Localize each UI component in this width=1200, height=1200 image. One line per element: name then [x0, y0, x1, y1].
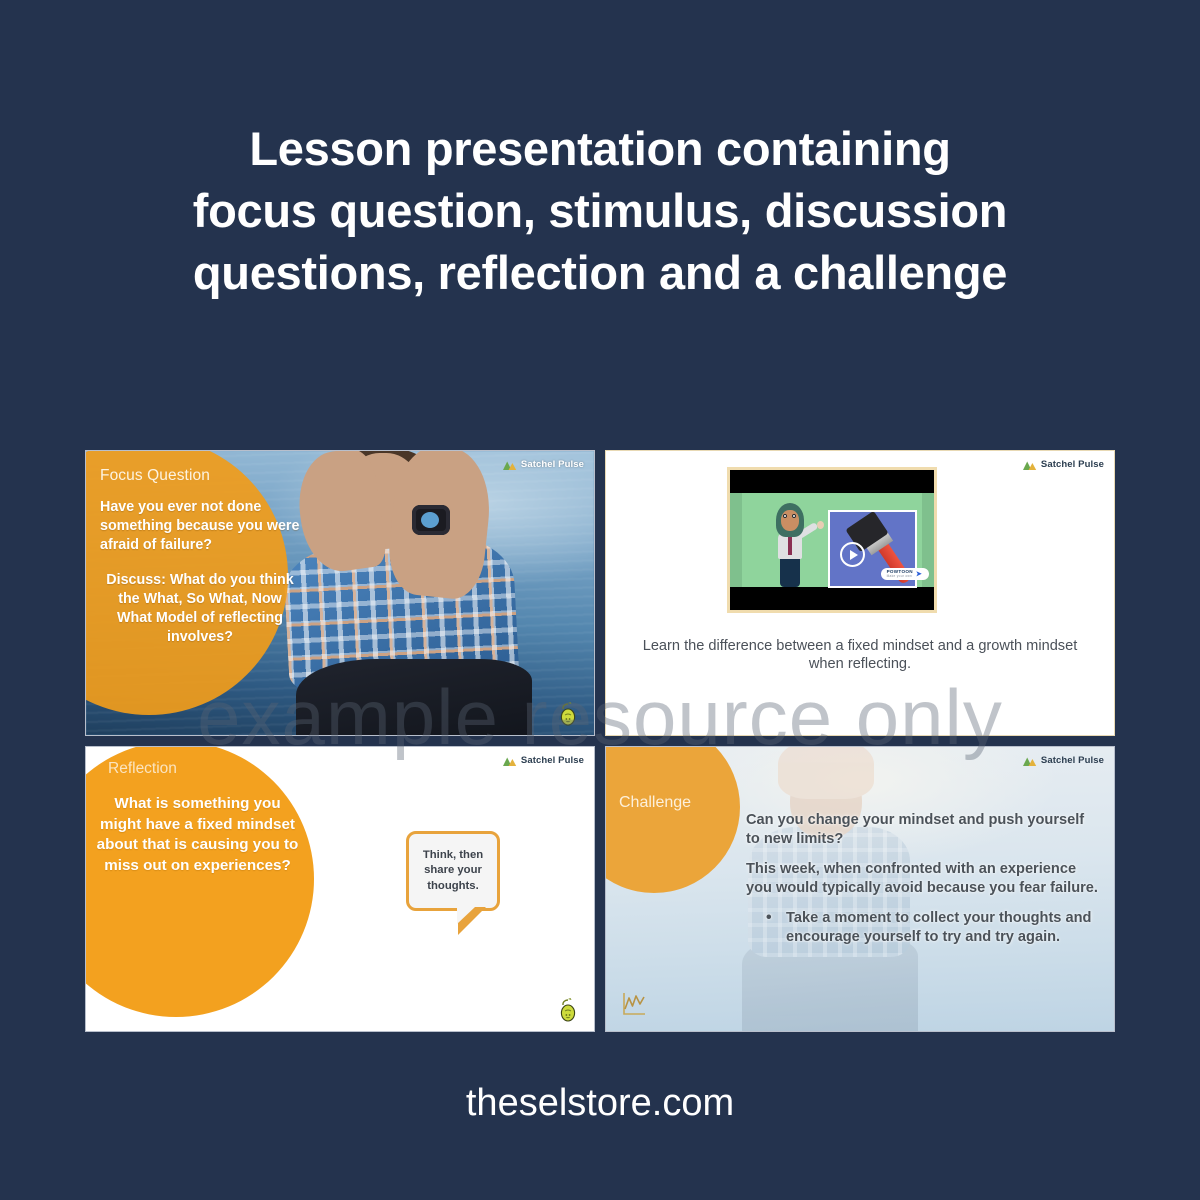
- reflection-question-text: What is something you might have a fixed…: [94, 794, 301, 877]
- two-mountains-icon: [503, 756, 517, 766]
- letterbox-bottom: [730, 587, 934, 610]
- satchel-pulse-logo-text: Satchel Pulse: [1041, 459, 1104, 470]
- man-illustration: [262, 450, 532, 736]
- slide-kicker: Focus Question: [100, 467, 300, 485]
- speech-bubble: Think, then share your thoughts.: [406, 831, 500, 911]
- slide-stimulus[interactable]: Satchel Pulse: [605, 450, 1115, 736]
- slide-kicker: Reflection: [108, 760, 177, 778]
- presenter-eye-left: [783, 514, 787, 518]
- page-title-line-1: Lesson presentation containing: [90, 118, 1110, 180]
- presenter-character: [770, 503, 810, 587]
- play-icon[interactable]: [840, 542, 865, 567]
- satchel-pulse-logo-text: Satchel Pulse: [1041, 755, 1104, 766]
- orange-circle-accent: [85, 746, 314, 1017]
- powtoon-arrow-icon: ➤: [916, 571, 922, 578]
- two-mountains-icon: [503, 460, 517, 470]
- slide-challenge[interactable]: Satchel Pulse Challenge Can you change y…: [605, 746, 1115, 1032]
- page-title: Lesson presentation containing focus que…: [0, 118, 1200, 304]
- slide-thumbnail-grid: Satchel Pulse Focus Question Have you ev…: [85, 450, 1115, 1032]
- slide-focus-question[interactable]: Satchel Pulse Focus Question Have you ev…: [85, 450, 595, 736]
- pear-icon: [558, 997, 578, 1023]
- satchel-pulse-logo: Satchel Pulse: [1023, 459, 1104, 470]
- wristwatch: [412, 505, 450, 535]
- pear-icon: [558, 701, 578, 727]
- presenter-eye-right: [792, 514, 796, 518]
- challenge-paragraph-1: Can you change your mindset and push you…: [746, 811, 1100, 848]
- page-title-line-3: questions, reflection and a challenge: [90, 242, 1110, 304]
- presenter-legs: [780, 555, 800, 587]
- page-title-line-2: focus question, stimulus, discussion: [90, 180, 1110, 242]
- satchel-pulse-logo: Satchel Pulse: [503, 755, 584, 766]
- speech-bubble-tail-inner: [457, 907, 475, 924]
- challenge-paragraph-2: This week, when confronted with an exper…: [746, 860, 1100, 897]
- footer-url: theselstore.com: [0, 1082, 1200, 1125]
- powtoon-watermark: POWTOON Make your own ➤: [881, 568, 929, 580]
- slide-reflection[interactable]: Satchel Pulse Reflection What is somethi…: [85, 746, 595, 1032]
- presenter-hand: [817, 521, 824, 529]
- stimulus-caption: Learn the difference between a fixed min…: [606, 637, 1114, 673]
- challenge-bullet-item: Take a moment to collect your thoughts a…: [766, 909, 1100, 946]
- satchel-pulse-logo: Satchel Pulse: [1023, 755, 1104, 766]
- slide-kicker: Challenge: [619, 794, 691, 812]
- video-player[interactable]: POWTOON Make your own ➤: [727, 467, 937, 613]
- figure-hands: [778, 746, 874, 799]
- satchel-pulse-logo-text: Satchel Pulse: [521, 459, 584, 470]
- speech-bubble-text: Think, then share your thoughts.: [409, 848, 497, 894]
- powtoon-sublabel: Make your own: [887, 575, 913, 578]
- focus-question-discuss-text: Discuss: What do you think the What, So …: [100, 571, 300, 647]
- letterbox-top: [730, 470, 934, 493]
- focus-question-content: Focus Question Have you ever not done so…: [100, 467, 300, 647]
- two-mountains-icon: [1023, 460, 1037, 470]
- line-chart-icon: [621, 991, 647, 1017]
- focus-question-text: Have you ever not done something because…: [100, 498, 300, 555]
- satchel-pulse-logo: Satchel Pulse: [503, 459, 584, 470]
- video-scene: POWTOON Make your own ➤: [730, 493, 934, 587]
- legs: [296, 659, 532, 736]
- satchel-pulse-logo-text: Satchel Pulse: [521, 755, 584, 766]
- challenge-bullet-list: Take a moment to collect your thoughts a…: [766, 909, 1100, 946]
- challenge-content: Can you change your mindset and push you…: [746, 811, 1100, 946]
- two-mountains-icon: [1023, 756, 1037, 766]
